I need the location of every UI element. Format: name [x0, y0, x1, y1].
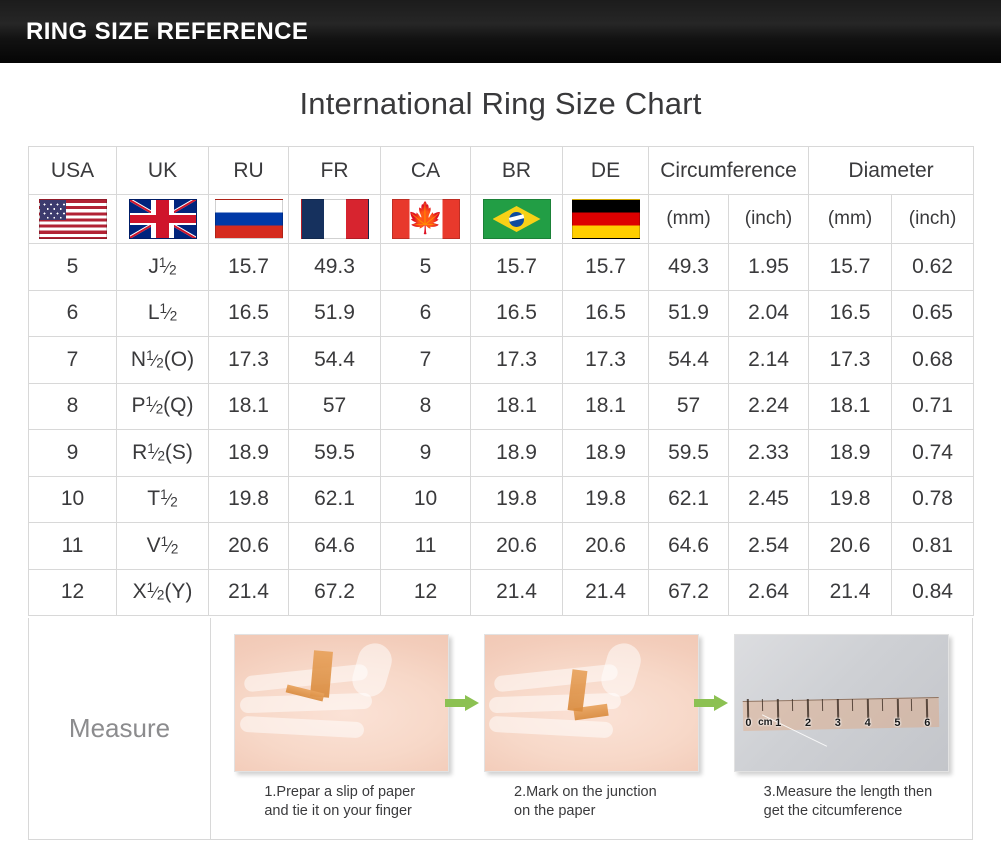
cell-ru: 18.9 [209, 430, 289, 477]
flag-cell-fr [289, 195, 381, 244]
cell-ca: 10 [381, 476, 471, 523]
header-de: DE [563, 147, 649, 195]
ruler-tick-major [837, 699, 839, 718]
cell-fr: 57 [289, 383, 381, 430]
header-usa: USA [29, 147, 117, 195]
table-row: 10T1⁄219.862.11019.819.862.12.4519.80.78 [29, 476, 974, 523]
ru-flag-icon [215, 199, 283, 239]
cell-uk: X1⁄2(Y) [117, 569, 209, 616]
table-header: USA UK RU FR CA BR DE Circumference Diam… [29, 147, 974, 244]
cell-diameter-inch: 0.81 [892, 523, 974, 570]
cell-circumference-mm: 54.4 [649, 337, 729, 384]
cell-br: 17.3 [471, 337, 563, 384]
measure-step-3: 0123456cm 3.Measure the length thenget t… [716, 634, 966, 821]
ruler-tick-minor [882, 699, 883, 711]
ruler-tick-major [867, 699, 869, 718]
us-flag-icon [39, 199, 107, 239]
cell-uk: L1⁄2 [117, 290, 209, 337]
measure-step-3-caption: 3.Measure the length thenget the citcumf… [734, 783, 949, 821]
cell-ru: 17.3 [209, 337, 289, 384]
cell-diameter-mm: 19.8 [809, 476, 892, 523]
cell-usa: 10 [29, 476, 117, 523]
cell-diameter-inch: 0.68 [892, 337, 974, 384]
ruler-number: 1 [775, 717, 781, 729]
table-row: 11V1⁄220.664.61120.620.664.62.5420.60.81 [29, 523, 974, 570]
measure-step-1: 1.Prepar a slip of paperand tie it on yo… [217, 634, 467, 821]
cell-diameter-mm: 17.3 [809, 337, 892, 384]
cell-uk: P1⁄2(Q) [117, 383, 209, 430]
cell-fr: 54.4 [289, 337, 381, 384]
table-body: 5J1⁄215.749.3515.715.749.31.9515.70.626L… [29, 244, 974, 616]
cell-usa: 8 [29, 383, 117, 430]
country-name-row: USA UK RU FR CA BR DE Circumference Diam… [29, 147, 974, 195]
cell-diameter-inch: 0.78 [892, 476, 974, 523]
cell-br: 15.7 [471, 244, 563, 291]
cell-circumference-inch: 2.33 [729, 430, 809, 477]
cell-diameter-mm: 20.6 [809, 523, 892, 570]
cell-ca: 7 [381, 337, 471, 384]
flag-cell-ca: 🍁 [381, 195, 471, 244]
cell-br: 18.1 [471, 383, 563, 430]
measure-step-2-caption: 2.Mark on the junctionon the paper [484, 783, 699, 821]
cell-fr: 62.1 [289, 476, 381, 523]
cell-uk: R1⁄2(S) [117, 430, 209, 477]
measure-section: Measure 1.Prepar a slip of paperand tie … [28, 618, 973, 840]
cell-circumference-inch: 2.45 [729, 476, 809, 523]
flag-cell-de [563, 195, 649, 244]
header-circumference: Circumference [649, 147, 809, 195]
header-br: BR [471, 147, 563, 195]
cell-circumference-mm: 49.3 [649, 244, 729, 291]
cell-br: 16.5 [471, 290, 563, 337]
cell-usa: 9 [29, 430, 117, 477]
ruler-number: 5 [894, 717, 900, 729]
header-ru: RU [209, 147, 289, 195]
cell-ru: 20.6 [209, 523, 289, 570]
cell-de: 20.6 [563, 523, 649, 570]
ruler-number: 4 [865, 717, 871, 729]
cell-ca: 5 [381, 244, 471, 291]
ruler-number: 6 [924, 717, 930, 729]
cell-fr: 51.9 [289, 290, 381, 337]
cell-circumference-inch: 2.14 [729, 337, 809, 384]
ruler-measuring-paper-photo: 0123456cm [734, 634, 949, 772]
cell-br: 20.6 [471, 523, 563, 570]
ruler-number: 2 [805, 717, 811, 729]
measure-step-2: 2.Mark on the junctionon the paper [467, 634, 717, 821]
fr-flag-icon [301, 199, 369, 239]
measure-steps: 1.Prepar a slip of paperand tie it on yo… [211, 618, 972, 839]
cell-ca: 9 [381, 430, 471, 477]
page-banner: RING SIZE REFERENCE [0, 0, 1001, 63]
cell-ru: 21.4 [209, 569, 289, 616]
page-title: International Ring Size Chart [0, 86, 1001, 122]
hand-marking-paper-photo [484, 634, 699, 772]
cell-circumference-inch: 2.64 [729, 569, 809, 616]
cell-uk: T1⁄2 [117, 476, 209, 523]
table-row: 5J1⁄215.749.3515.715.749.31.9515.70.62 [29, 244, 974, 291]
cell-br: 21.4 [471, 569, 563, 616]
cell-ca: 6 [381, 290, 471, 337]
unit-diameter-mm: (mm) [809, 195, 892, 244]
ring-size-table: USA UK RU FR CA BR DE Circumference Diam… [28, 146, 974, 616]
table-row: 8P1⁄2(Q)18.157818.118.1572.2418.10.71 [29, 383, 974, 430]
cell-fr: 49.3 [289, 244, 381, 291]
ruler-number: 0 [745, 717, 751, 729]
cell-usa: 6 [29, 290, 117, 337]
cell-diameter-inch: 0.84 [892, 569, 974, 616]
arrow-right-icon [445, 696, 479, 710]
cell-diameter-mm: 21.4 [809, 569, 892, 616]
cell-circumference-inch: 1.95 [729, 244, 809, 291]
cell-uk: V1⁄2 [117, 523, 209, 570]
cell-usa: 7 [29, 337, 117, 384]
cell-diameter-inch: 0.74 [892, 430, 974, 477]
cell-usa: 12 [29, 569, 117, 616]
cell-circumference-inch: 2.54 [729, 523, 809, 570]
cell-diameter-inch: 0.62 [892, 244, 974, 291]
cell-br: 19.8 [471, 476, 563, 523]
unit-circumference-mm: (mm) [649, 195, 729, 244]
cell-ca: 8 [381, 383, 471, 430]
cell-circumference-inch: 2.04 [729, 290, 809, 337]
cell-ru: 15.7 [209, 244, 289, 291]
table-row: 9R1⁄2(S)18.959.5918.918.959.52.3318.90.7… [29, 430, 974, 477]
cell-diameter-inch: 0.71 [892, 383, 974, 430]
ruler-unit-label: cm [758, 717, 772, 728]
cell-diameter-mm: 18.9 [809, 430, 892, 477]
cell-de: 15.7 [563, 244, 649, 291]
ring-size-table-wrapper: USA UK RU FR CA BR DE Circumference Diam… [28, 146, 973, 616]
flag-cell-ru [209, 195, 289, 244]
cell-de: 18.9 [563, 430, 649, 477]
hand-with-paper-strip-photo [234, 634, 449, 772]
table-row: 6L1⁄216.551.9616.516.551.92.0416.50.65 [29, 290, 974, 337]
banner-title: RING SIZE REFERENCE [26, 18, 308, 46]
ca-flag-icon: 🍁 [392, 199, 460, 239]
cell-uk: J1⁄2 [117, 244, 209, 291]
measure-label: Measure [69, 713, 170, 744]
cell-de: 18.1 [563, 383, 649, 430]
ruler-tick-minor [852, 699, 853, 711]
header-diameter: Diameter [809, 147, 974, 195]
cell-ru: 16.5 [209, 290, 289, 337]
flag-cell-usa [29, 195, 117, 244]
cell-ru: 18.1 [209, 383, 289, 430]
unit-diameter-inch: (inch) [892, 195, 974, 244]
cell-fr: 59.5 [289, 430, 381, 477]
table-row: 12X1⁄2(Y)21.467.21221.421.467.22.6421.40… [29, 569, 974, 616]
cell-ru: 19.8 [209, 476, 289, 523]
cell-fr: 67.2 [289, 569, 381, 616]
header-fr: FR [289, 147, 381, 195]
cell-circumference-mm: 62.1 [649, 476, 729, 523]
cell-circumference-mm: 51.9 [649, 290, 729, 337]
cell-de: 21.4 [563, 569, 649, 616]
flag-cell-br [471, 195, 563, 244]
header-ca: CA [381, 147, 471, 195]
ring-size-reference-page: RING SIZE REFERENCE International Ring S… [0, 0, 1001, 863]
cell-fr: 64.6 [289, 523, 381, 570]
cell-usa: 11 [29, 523, 117, 570]
cell-diameter-inch: 0.65 [892, 290, 974, 337]
cell-ca: 11 [381, 523, 471, 570]
cell-de: 17.3 [563, 337, 649, 384]
ruler-tick-major [896, 699, 898, 718]
uk-flag-icon [129, 199, 197, 239]
cell-circumference-mm: 59.5 [649, 430, 729, 477]
cell-circumference-mm: 57 [649, 383, 729, 430]
header-uk: UK [117, 147, 209, 195]
flag-and-unit-row: 🍁 (mm) (inch) (mm) (inch) [29, 195, 974, 244]
cell-circumference-mm: 64.6 [649, 523, 729, 570]
cell-uk: N1⁄2(O) [117, 337, 209, 384]
cell-diameter-mm: 18.1 [809, 383, 892, 430]
cell-de: 16.5 [563, 290, 649, 337]
arrow-right-icon-2 [694, 696, 728, 710]
measure-label-cell: Measure [29, 618, 211, 839]
cell-diameter-mm: 15.7 [809, 244, 892, 291]
cell-diameter-mm: 16.5 [809, 290, 892, 337]
cell-usa: 5 [29, 244, 117, 291]
de-flag-icon [572, 199, 640, 239]
cell-ca: 12 [381, 569, 471, 616]
measure-step-1-caption: 1.Prepar a slip of paperand tie it on yo… [234, 783, 449, 821]
br-flag-icon [483, 199, 551, 239]
unit-circumference-inch: (inch) [729, 195, 809, 244]
table-row: 7N1⁄2(O)17.354.4717.317.354.42.1417.30.6… [29, 337, 974, 384]
cell-br: 18.9 [471, 430, 563, 477]
cell-circumference-mm: 67.2 [649, 569, 729, 616]
cell-de: 19.8 [563, 476, 649, 523]
ruler-number: 3 [835, 717, 841, 729]
flag-cell-uk [117, 195, 209, 244]
cell-circumference-inch: 2.24 [729, 383, 809, 430]
